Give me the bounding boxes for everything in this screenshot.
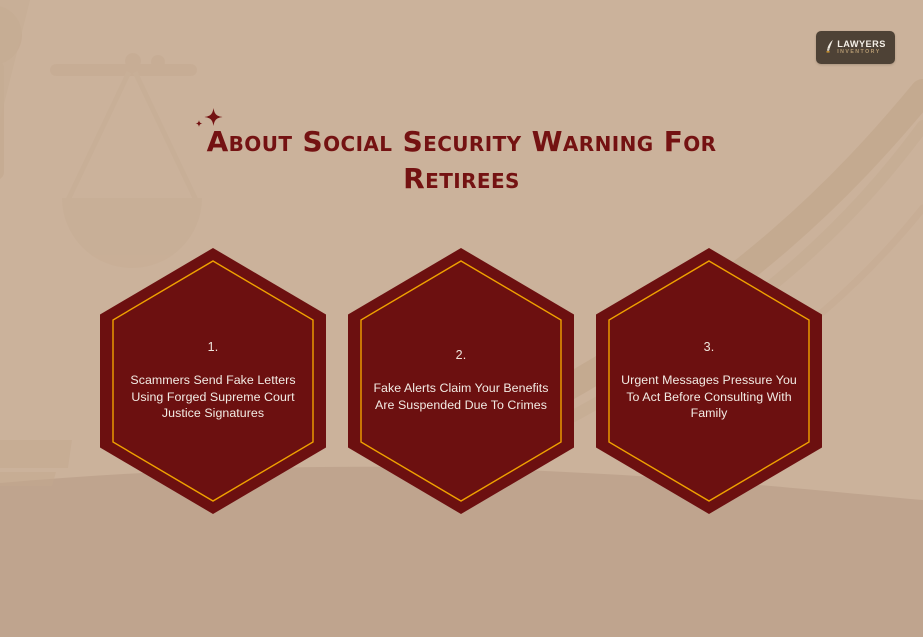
- card-number: 2.: [456, 349, 467, 362]
- card-number: 1.: [208, 341, 219, 354]
- hexagon-card-row: 1. Scammers Send Fake Letters Using Forg…: [100, 248, 826, 514]
- brand-logo-badge[interactable]: LAWYERS INVENTORY: [816, 31, 895, 64]
- card-label: Fake Alerts Claim Your Benefits Are Susp…: [370, 380, 552, 413]
- hexagon-card-content: 2. Fake Alerts Claim Your Benefits Are S…: [348, 248, 574, 514]
- hexagon-card-content: 1. Scammers Send Fake Letters Using Forg…: [100, 248, 326, 514]
- hexagon-card[interactable]: 1. Scammers Send Fake Letters Using Forg…: [100, 248, 326, 514]
- quill-pen-icon: [825, 39, 834, 55]
- heading-block: About Social Security Warning For Retire…: [0, 124, 923, 198]
- logo-wordmark: LAWYERS INVENTORY: [837, 40, 886, 56]
- hexagon-card[interactable]: 2. Fake Alerts Claim Your Benefits Are S…: [348, 248, 574, 514]
- page-title: About Social Security Warning For Retire…: [152, 124, 772, 198]
- logo-name: LAWYERS: [837, 40, 886, 49]
- logo-subtitle: INVENTORY: [837, 50, 880, 55]
- card-number: 3.: [704, 341, 715, 354]
- slide-canvas: LAWYERS INVENTORY About Social Security …: [0, 0, 923, 637]
- hexagon-card-content: 3. Urgent Messages Pressure You To Act B…: [596, 248, 822, 514]
- card-label: Scammers Send Fake Letters Using Forged …: [122, 372, 304, 422]
- hexagon-card[interactable]: 3. Urgent Messages Pressure You To Act B…: [596, 248, 822, 514]
- card-label: Urgent Messages Pressure You To Act Befo…: [618, 372, 800, 422]
